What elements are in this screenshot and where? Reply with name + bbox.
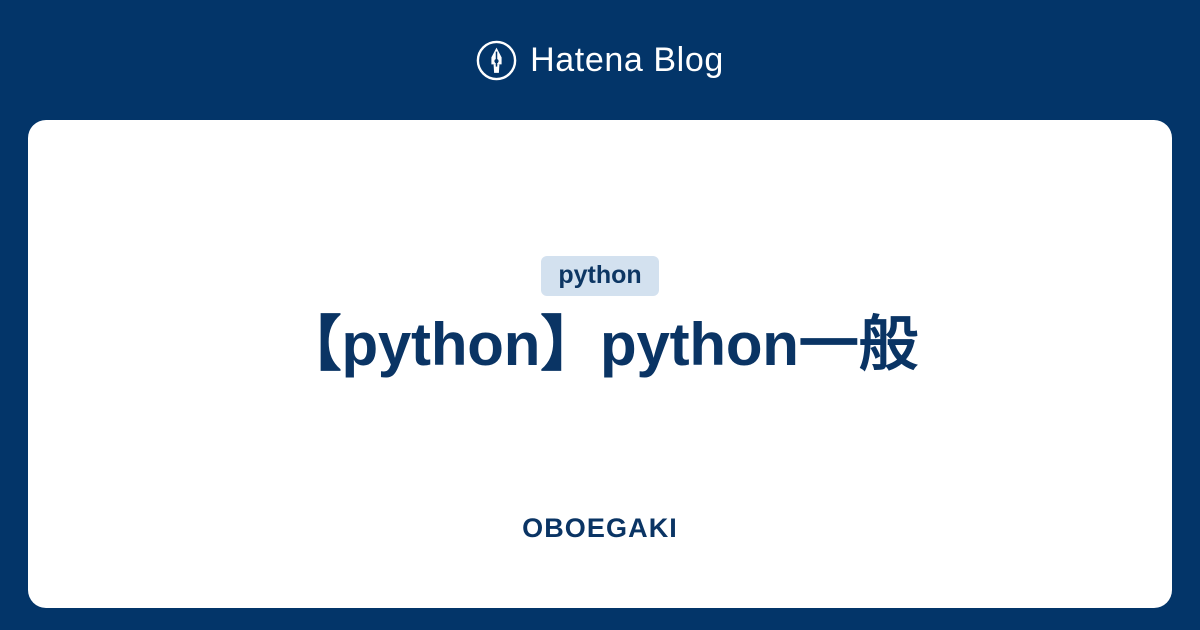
brand-name: Hatena Blog xyxy=(530,43,724,77)
ogp-canvas: Hatena Blog python 【python】python一般 OBOE… xyxy=(0,0,1200,630)
fountain-pen-nib-circle-icon xyxy=(476,40,517,81)
brand-header: Hatena Blog xyxy=(0,0,1200,120)
blog-name[interactable]: OBOEGAKI xyxy=(28,515,1172,542)
category-tag[interactable]: python xyxy=(541,256,658,296)
content-card: python 【python】python一般 OBOEGAKI xyxy=(28,120,1172,608)
entry-title: 【python】python一般 xyxy=(242,308,959,381)
card-inner: python 【python】python一般 xyxy=(28,120,1172,381)
tag-row: python xyxy=(28,256,1172,296)
